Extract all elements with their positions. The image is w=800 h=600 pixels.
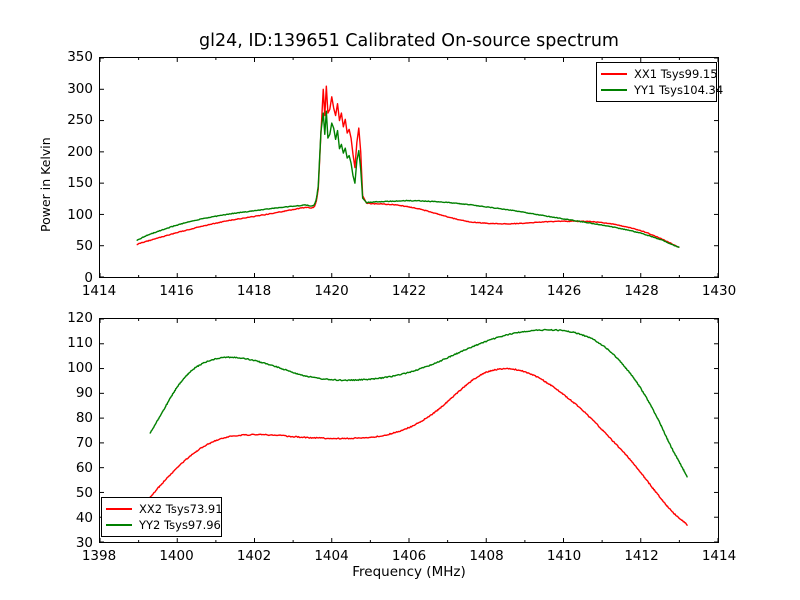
legend-label-yy1: YY1 Tsys104.34 — [634, 83, 723, 97]
y-tick-label-top: 100 — [33, 207, 93, 223]
legend-label-xx2: XX2 Tsys73.91 — [139, 502, 223, 516]
legend-label-xx1: XX1 Tsys99.15 — [634, 67, 718, 81]
y-tick-label-bottom: 120 — [33, 310, 93, 326]
series-line — [137, 86, 680, 247]
x-tick-label-bottom: 1398 — [82, 548, 116, 564]
legend-item: XX1 Tsys99.15 — [601, 66, 711, 82]
series-line — [137, 111, 680, 247]
series-line — [150, 368, 687, 525]
y-tick-label-top: 350 — [33, 49, 93, 65]
x-axis-label: Frequency (MHz) — [99, 564, 719, 580]
legend-line-swatch-xx2 — [106, 508, 132, 510]
x-tick-label-bottom: 1410 — [547, 548, 581, 564]
legend-label-yy2: YY2 Tsys97.96 — [139, 518, 221, 532]
x-tick-label-top: 1424 — [469, 283, 503, 299]
x-tick-label-bottom: 1400 — [159, 548, 193, 564]
x-tick-label-bottom: 1408 — [469, 548, 503, 564]
y-tick-label-top: 150 — [33, 175, 93, 191]
y-tick-label-bottom: 100 — [33, 360, 93, 376]
legend-line-swatch-xx1 — [601, 73, 627, 75]
x-tick-label-top: 1422 — [392, 283, 426, 299]
x-tick-label-top: 1416 — [159, 283, 193, 299]
x-tick-label-bottom: 1402 — [237, 548, 271, 564]
x-tick-label-bottom: 1406 — [392, 548, 426, 564]
y-tick-label-top: 300 — [33, 81, 93, 97]
y-tick-label-bottom: 40 — [33, 510, 93, 526]
y-tick-label-top: 200 — [33, 144, 93, 160]
x-tick-label-bottom: 1404 — [314, 548, 348, 564]
x-tick-label-top: 1418 — [237, 283, 271, 299]
legend-item: YY2 Tsys97.96 — [106, 517, 216, 533]
x-tick-label-top: 1426 — [547, 283, 581, 299]
y-tick-label-top: 50 — [33, 238, 93, 254]
x-tick-label-top: 1414 — [82, 283, 116, 299]
y-tick-label-bottom: 70 — [33, 435, 93, 451]
legend-item: YY1 Tsys104.34 — [601, 82, 711, 98]
y-tick-label-bottom: 60 — [33, 460, 93, 476]
legend-bottom: XX2 Tsys73.91 YY2 Tsys97.96 — [101, 497, 222, 537]
x-tick-label-top: 1420 — [314, 283, 348, 299]
y-tick-label-bottom: 80 — [33, 410, 93, 426]
x-tick-label-bottom: 1414 — [702, 548, 736, 564]
figure-title: gl24, ID:139651 Calibrated On-source spe… — [99, 31, 719, 51]
legend-line-swatch-yy2 — [106, 524, 132, 526]
y-tick-label-bottom: 110 — [33, 335, 93, 351]
legend-item: XX2 Tsys73.91 — [106, 501, 216, 517]
y-tick-label-bottom: 90 — [33, 385, 93, 401]
x-tick-label-top: 1430 — [702, 283, 736, 299]
series-line — [150, 330, 687, 477]
x-tick-label-top: 1428 — [624, 283, 658, 299]
y-tick-label-bottom: 50 — [33, 485, 93, 501]
legend-top: XX1 Tsys99.15 YY1 Tsys104.34 — [596, 62, 717, 102]
figure-canvas: gl24, ID:139651 Calibrated On-source spe… — [0, 0, 800, 600]
x-tick-label-bottom: 1412 — [624, 548, 658, 564]
y-tick-label-top: 250 — [33, 112, 93, 128]
legend-line-swatch-yy1 — [601, 89, 627, 91]
